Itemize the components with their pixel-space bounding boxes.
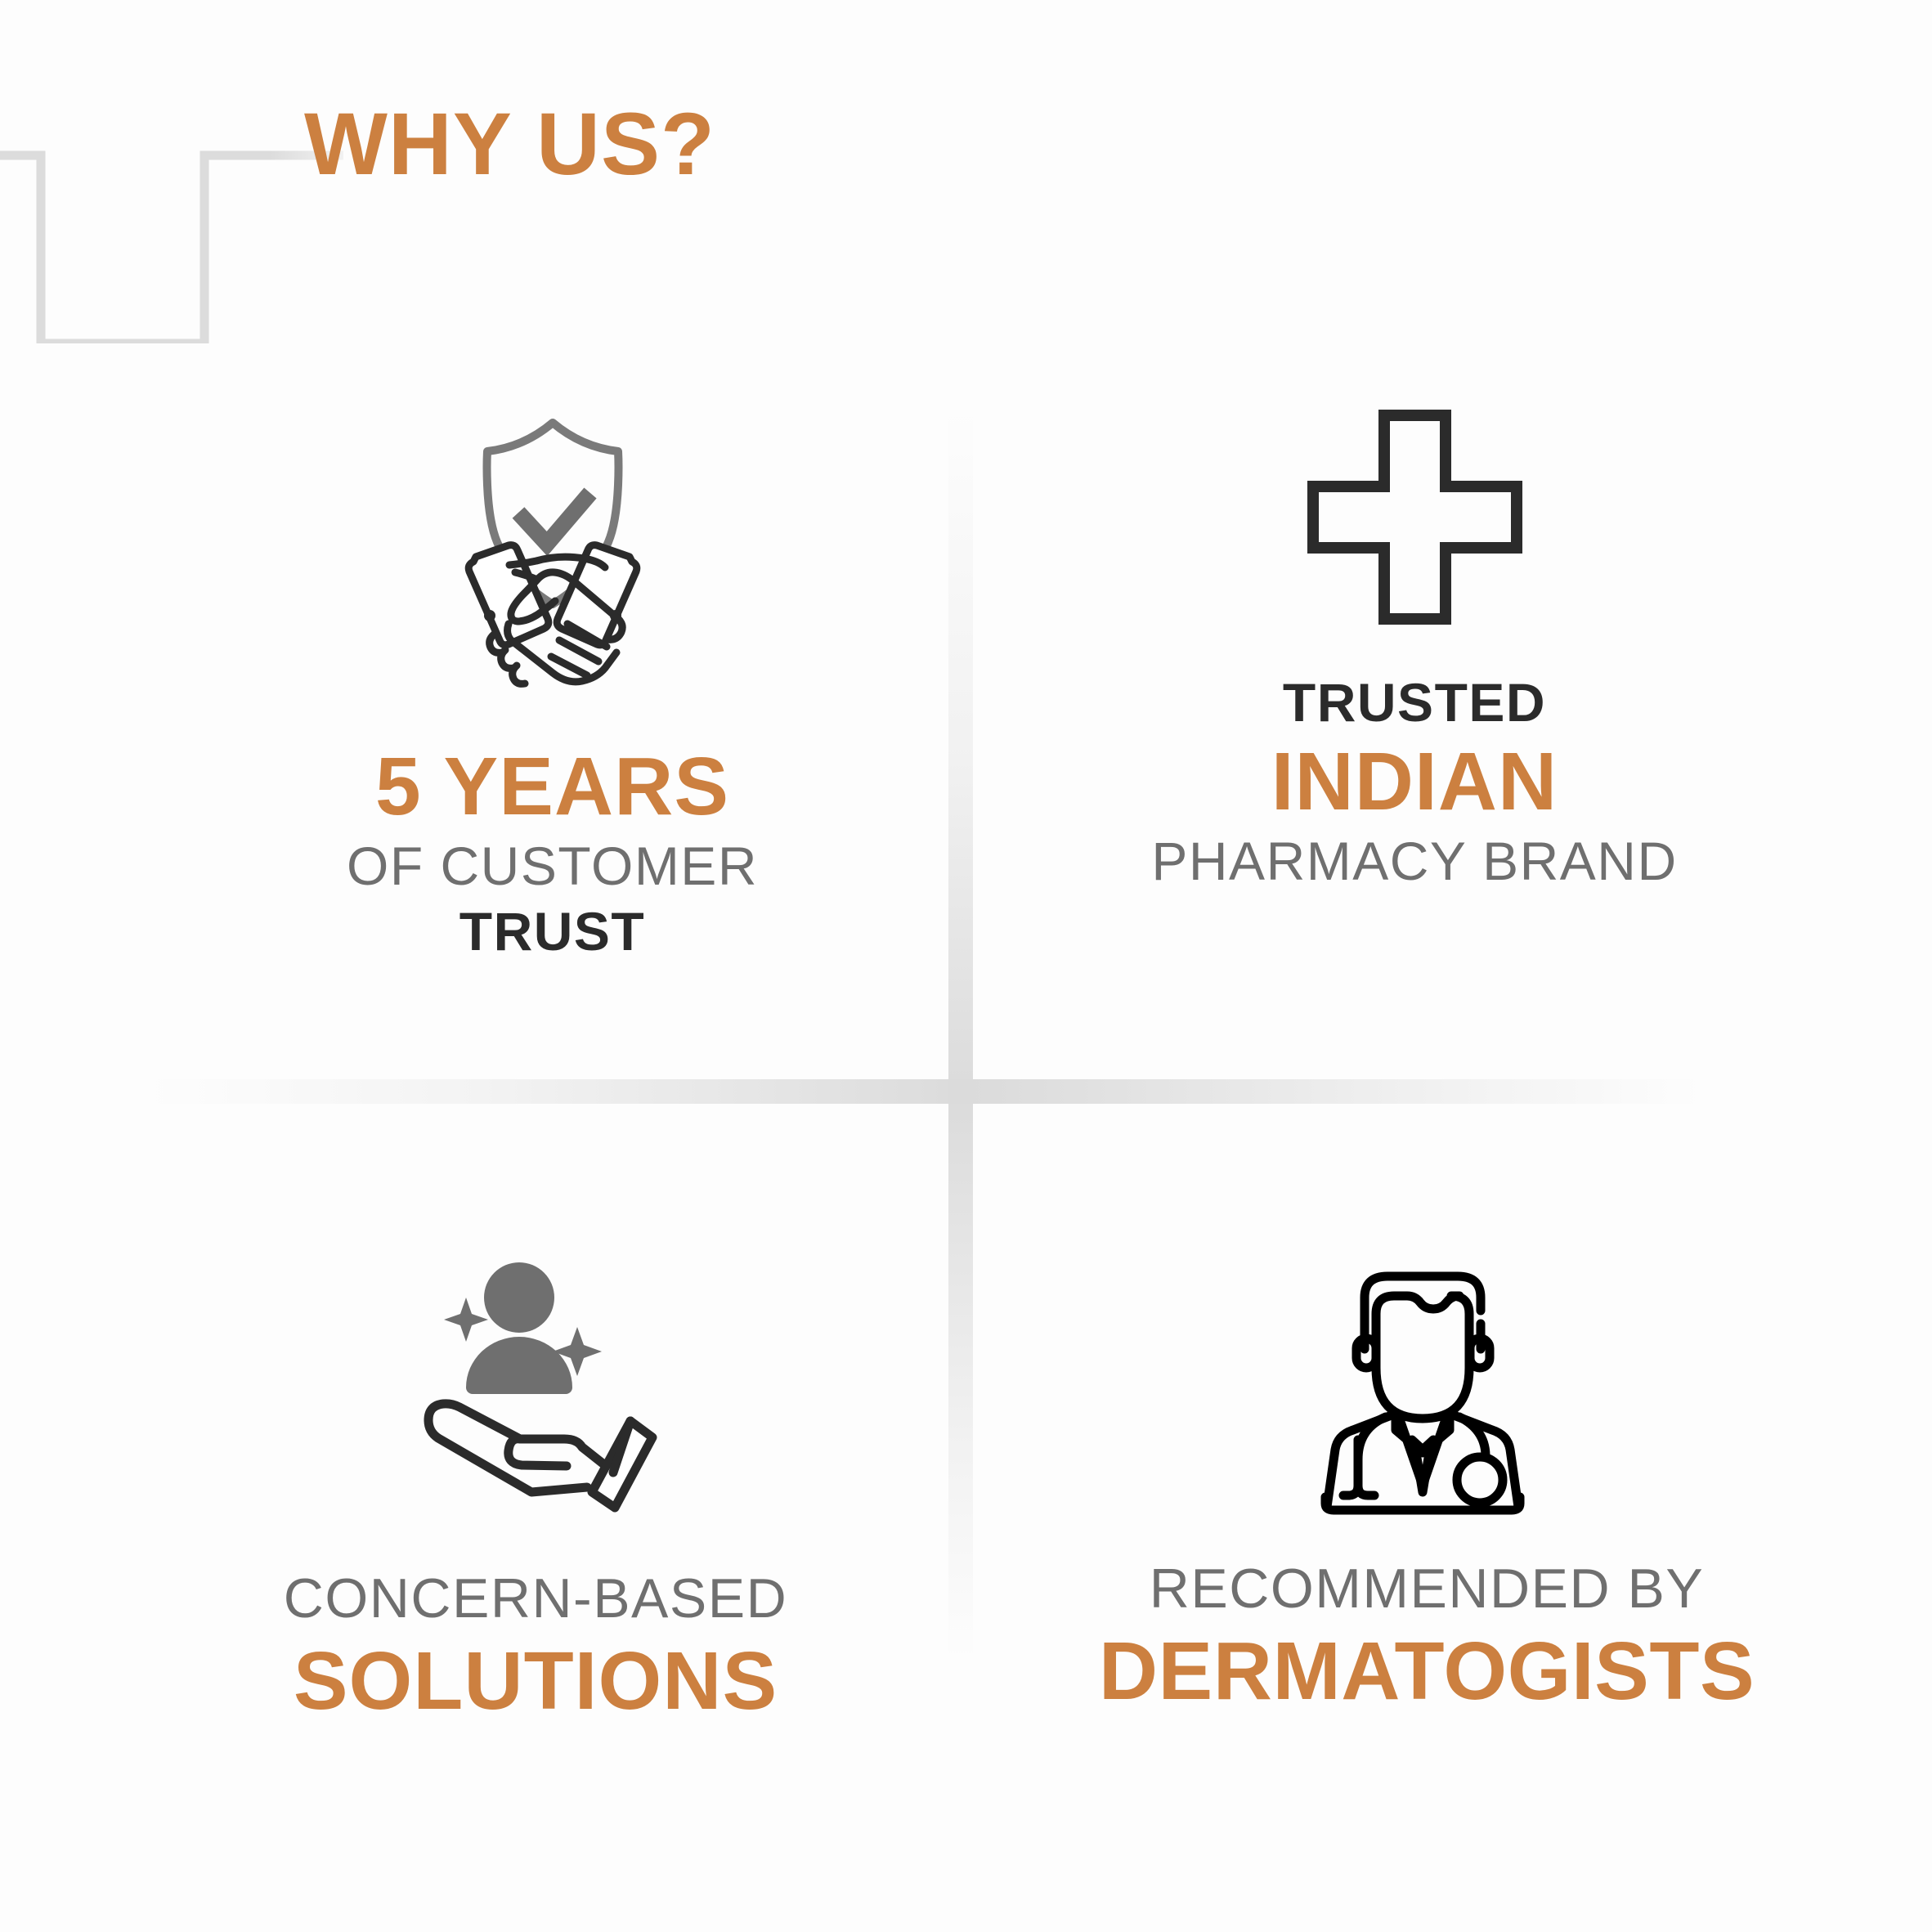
page-title: WHY US? <box>304 100 715 188</box>
card-dermatologists-text: RECOMMENDED BY DERMATOGISTS <box>1099 1559 1755 1715</box>
card-brand-line-1: TRUSTED <box>1151 675 1677 732</box>
card-solutions-line-1: CONCERN-BASED <box>284 1569 787 1628</box>
card-solutions: CONCERN-BASED SOLUTIONS <box>123 1247 948 1724</box>
card-dermatologists-line-1: RECOMMENDED BY <box>1099 1559 1755 1618</box>
card-solutions-line-2: SOLUTIONS <box>284 1638 787 1724</box>
card-brand-text: TRUSTED INDIAN PHARMACY BRAND <box>1151 675 1677 890</box>
card-brand-line-3: PHARMACY BRAND <box>1151 833 1677 890</box>
card-dermatologists-line-2: DERMATOGISTS <box>1099 1628 1755 1715</box>
shield-check-handshake-icon <box>430 405 675 707</box>
card-brand: TRUSTED INDIAN PHARMACY BRAND <box>965 409 1864 890</box>
card-brand-line-2: INDIAN <box>1151 738 1677 825</box>
plus-cross-outline-icon <box>0 0 343 343</box>
hand-holding-person-sparkle-icon <box>401 1247 670 1517</box>
card-trust-line-1: 5 YEARS <box>347 743 758 830</box>
why-us-infographic: WHY US? <box>0 0 1932 1932</box>
medical-cross-icon <box>1307 409 1523 625</box>
doctor-stethoscope-icon <box>1304 1247 1549 1517</box>
card-trust: 5 YEARS OF CUSTOMER TRUST <box>146 405 959 961</box>
card-trust-line-3: TRUST <box>347 903 758 961</box>
card-trust-text: 5 YEARS OF CUSTOMER TRUST <box>347 743 758 961</box>
card-trust-line-2: OF CUSTOMER <box>347 838 758 895</box>
card-dermatologists: RECOMMENDED BY DERMATOGISTS <box>977 1247 1876 1715</box>
divider-horizontal <box>147 1079 1701 1104</box>
card-solutions-text: CONCERN-BASED SOLUTIONS <box>284 1569 787 1724</box>
